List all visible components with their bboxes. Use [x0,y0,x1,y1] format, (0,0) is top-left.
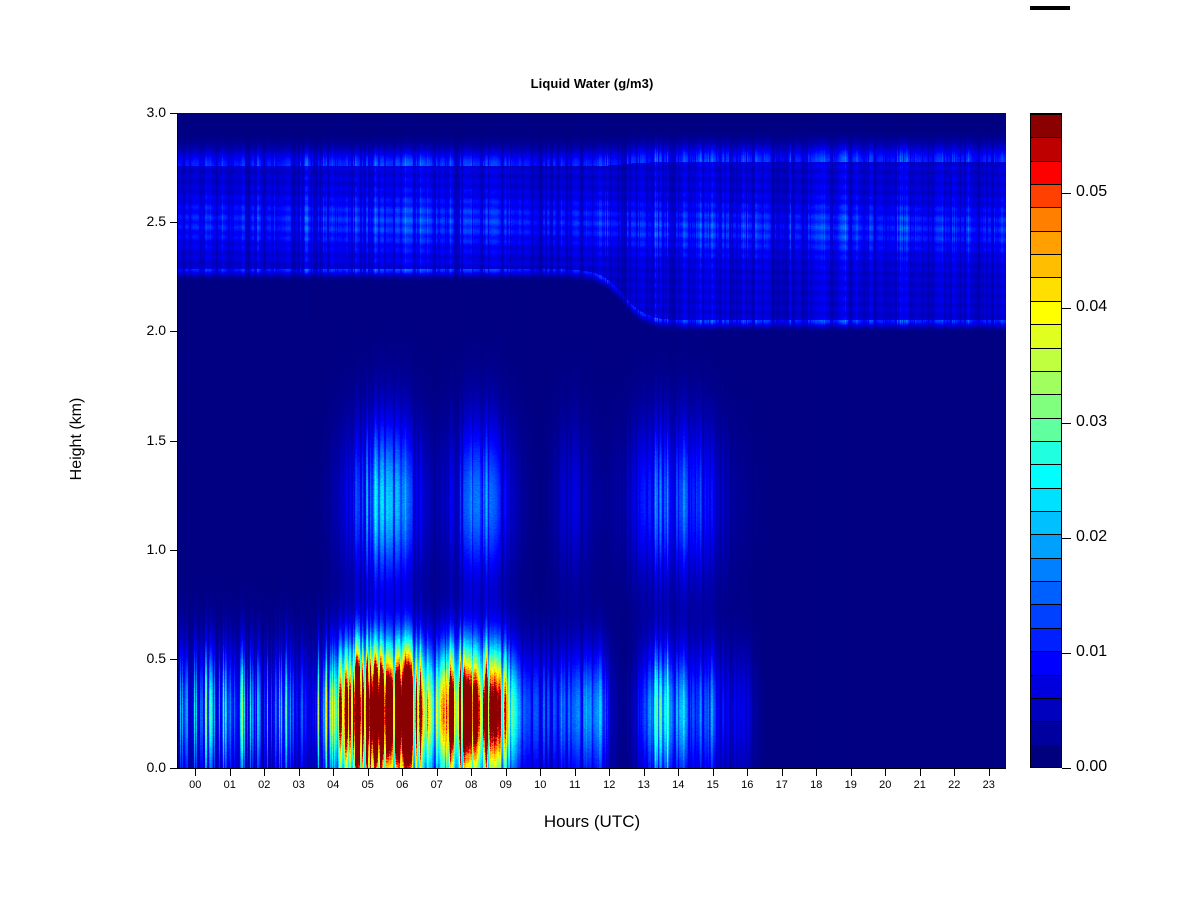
x-tick-label: 02 [249,779,279,791]
colorbar-block [1031,441,1061,464]
colorbar-block [1031,277,1061,300]
x-tick-label: 00 [180,779,210,791]
colorbar-block [1031,418,1061,441]
colorbar-block [1031,137,1061,160]
page-title: Liquid Water (g/m3) [178,76,1006,91]
x-tick-mark [851,769,852,776]
colorbar-block [1031,231,1061,254]
colorbar-block [1031,651,1061,674]
colorbar-block [1031,464,1061,487]
x-tick-mark [195,769,196,776]
y-tick-label: 1.0 [118,541,166,557]
x-tick-mark [644,769,645,776]
y-tick-mark [170,441,177,442]
colorbar-tick-label: 0.05 [1076,183,1107,201]
colorbar-tick-label: 0.03 [1076,413,1107,431]
x-tick-mark [816,769,817,776]
y-tick-mark [170,659,177,660]
colorbar-block [1031,628,1061,651]
x-tick-label: 08 [456,779,486,791]
x-tick-mark [264,769,265,776]
y-axis-title: Height (km) [68,349,86,529]
colorbar-tick-mark [1062,193,1071,194]
colorbar-block [1031,721,1061,744]
y-tick-mark [170,331,177,332]
x-tick-label: 13 [629,779,659,791]
colorbar-block [1031,207,1061,230]
colorbar-block [1031,604,1061,627]
top-right-marker [1030,6,1070,10]
colorbar-block [1031,511,1061,534]
colorbar-tick-label: 0.02 [1076,528,1107,546]
colorbar-block [1031,534,1061,557]
y-tick-label: 2.5 [118,213,166,229]
x-tick-label: 12 [594,779,624,791]
x-tick-mark [575,769,576,776]
x-tick-mark [747,769,748,776]
x-tick-label: 09 [491,779,521,791]
x-tick-label: 07 [422,779,452,791]
y-tick-label: 1.5 [118,432,166,448]
x-tick-label: 01 [215,779,245,791]
x-tick-mark [230,769,231,776]
colorbar-block [1031,161,1061,184]
colorbar-tick-label: 0.04 [1076,298,1107,316]
y-tick-label: 3.0 [118,104,166,120]
colorbar-tick-mark [1062,538,1071,539]
x-tick-label: 06 [387,779,417,791]
y-tick-mark [170,113,177,114]
colorbar [1030,113,1062,768]
colorbar-tick-label: 0.00 [1076,758,1107,776]
colorbar-block [1031,745,1061,767]
heatmap-image [178,113,1006,768]
x-tick-mark [471,769,472,776]
x-tick-mark [506,769,507,776]
x-tick-label: 23 [974,779,1004,791]
y-tick-label: 0.0 [118,759,166,775]
colorbar-tick-label: 0.01 [1076,643,1107,661]
colorbar-block [1031,254,1061,277]
x-tick-label: 17 [767,779,797,791]
colorbar-block [1031,581,1061,604]
x-tick-label: 11 [560,779,590,791]
x-tick-label: 22 [939,779,969,791]
x-tick-mark [678,769,679,776]
colorbar-block [1031,394,1061,417]
x-tick-mark [989,769,990,776]
colorbar-block [1031,114,1061,137]
colorbar-tick-mark [1062,308,1071,309]
x-tick-mark [954,769,955,776]
y-tick-mark [170,768,177,769]
x-tick-label: 14 [663,779,693,791]
colorbar-block [1031,488,1061,511]
x-tick-label: 10 [525,779,555,791]
x-tick-mark [609,769,610,776]
x-tick-mark [333,769,334,776]
x-tick-label: 21 [905,779,935,791]
colorbar-block [1031,348,1061,371]
y-axis-line [177,113,178,769]
x-tick-label: 16 [732,779,762,791]
colorbar-block [1031,324,1061,347]
colorbar-block [1031,698,1061,721]
colorbar-tick-mark [1062,768,1071,769]
x-tick-label: 20 [870,779,900,791]
x-tick-mark [437,769,438,776]
x-tick-mark [402,769,403,776]
x-tick-mark [713,769,714,776]
colorbar-block [1031,675,1061,698]
colorbar-block [1031,301,1061,324]
x-tick-label: 04 [318,779,348,791]
x-tick-label: 15 [698,779,728,791]
y-tick-mark [170,222,177,223]
x-axis-title: Hours (UTC) [178,812,1006,832]
colorbar-block [1031,558,1061,581]
x-tick-mark [540,769,541,776]
colorbar-tick-mark [1062,653,1071,654]
colorbar-block [1031,184,1061,207]
x-tick-label: 19 [836,779,866,791]
y-tick-label: 2.0 [118,322,166,338]
x-tick-label: 18 [801,779,831,791]
heatmap-plot-area [178,113,1006,768]
y-tick-mark [170,550,177,551]
x-tick-mark [920,769,921,776]
x-tick-mark [368,769,369,776]
y-tick-label: 0.5 [118,650,166,666]
x-tick-label: 03 [284,779,314,791]
x-tick-mark [299,769,300,776]
x-tick-label: 05 [353,779,383,791]
x-axis-line [178,768,1006,769]
colorbar-block [1031,371,1061,394]
figure-canvas: Liquid Water (g/m3) 00010203040506070809… [0,0,1200,900]
colorbar-tick-mark [1062,423,1071,424]
x-tick-mark [782,769,783,776]
x-tick-mark [885,769,886,776]
